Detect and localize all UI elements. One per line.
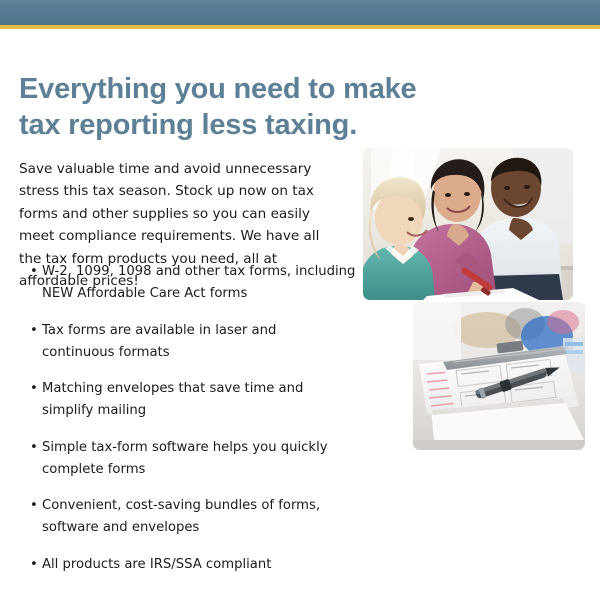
headline-line-2: tax reporting less taxing.: [19, 107, 489, 143]
bullet-text: Simple tax-form software helps you quick…: [42, 437, 360, 481]
top-banner-band: [0, 0, 600, 25]
bullet-marker-icon: •: [30, 261, 38, 283]
list-item: • All products are IRS/SSA compliant: [30, 554, 360, 576]
list-item: • Simple tax-form software helps you qui…: [30, 437, 360, 481]
bullet-marker-icon: •: [30, 437, 38, 459]
bullet-line-2: simplify mailing: [42, 400, 360, 422]
bullet-line-1: All products are IRS/SSA compliant: [42, 554, 360, 576]
bullet-line-1: W-2, 1099, 1098 and other tax forms, inc…: [42, 261, 360, 283]
top-banner-gold-rule: [0, 25, 600, 29]
headline-line-1: Everything you need to make: [19, 71, 489, 107]
bullet-line-1: Convenient, cost-saving bundles of forms…: [42, 495, 360, 517]
bullet-line-2: complete forms: [42, 459, 360, 481]
tax-forms-clipboard-photo: [413, 302, 585, 450]
bullet-marker-icon: •: [30, 320, 38, 342]
bullet-marker-icon: •: [30, 378, 38, 400]
list-item: • Tax forms are available in laser and c…: [30, 320, 360, 364]
bullet-text: Matching envelopes that save time and si…: [42, 378, 360, 422]
list-item: • Convenient, cost-saving bundles of for…: [30, 495, 360, 539]
bullet-line-1: Simple tax-form software helps you quick…: [42, 437, 360, 459]
bullet-line-2: continuous formats: [42, 342, 360, 364]
page-headline: Everything you need to make tax reportin…: [19, 71, 489, 143]
bullet-line-2: NEW Affordable Care Act forms: [42, 283, 360, 305]
forms-photo-artwork: [413, 302, 585, 450]
feature-bullet-list: • W-2, 1099, 1098 and other tax forms, i…: [30, 261, 360, 590]
team-reviewing-documents-photo: [363, 148, 573, 300]
bullet-line-2: software and envelopes: [42, 517, 360, 539]
bullet-text: W-2, 1099, 1098 and other tax forms, inc…: [42, 261, 360, 305]
team-photo-artwork: [363, 148, 573, 300]
bullet-marker-icon: •: [30, 554, 38, 576]
bullet-text: All products are IRS/SSA compliant: [42, 554, 360, 576]
list-item: • Matching envelopes that save time and …: [30, 378, 360, 422]
list-item: • W-2, 1099, 1098 and other tax forms, i…: [30, 261, 360, 305]
bullet-line-1: Tax forms are available in laser and: [42, 320, 360, 342]
bullet-marker-icon: •: [30, 495, 38, 517]
bullet-text: Convenient, cost-saving bundles of forms…: [42, 495, 360, 539]
bullet-text: Tax forms are available in laser and con…: [42, 320, 360, 364]
bullet-line-1: Matching envelopes that save time and: [42, 378, 360, 400]
